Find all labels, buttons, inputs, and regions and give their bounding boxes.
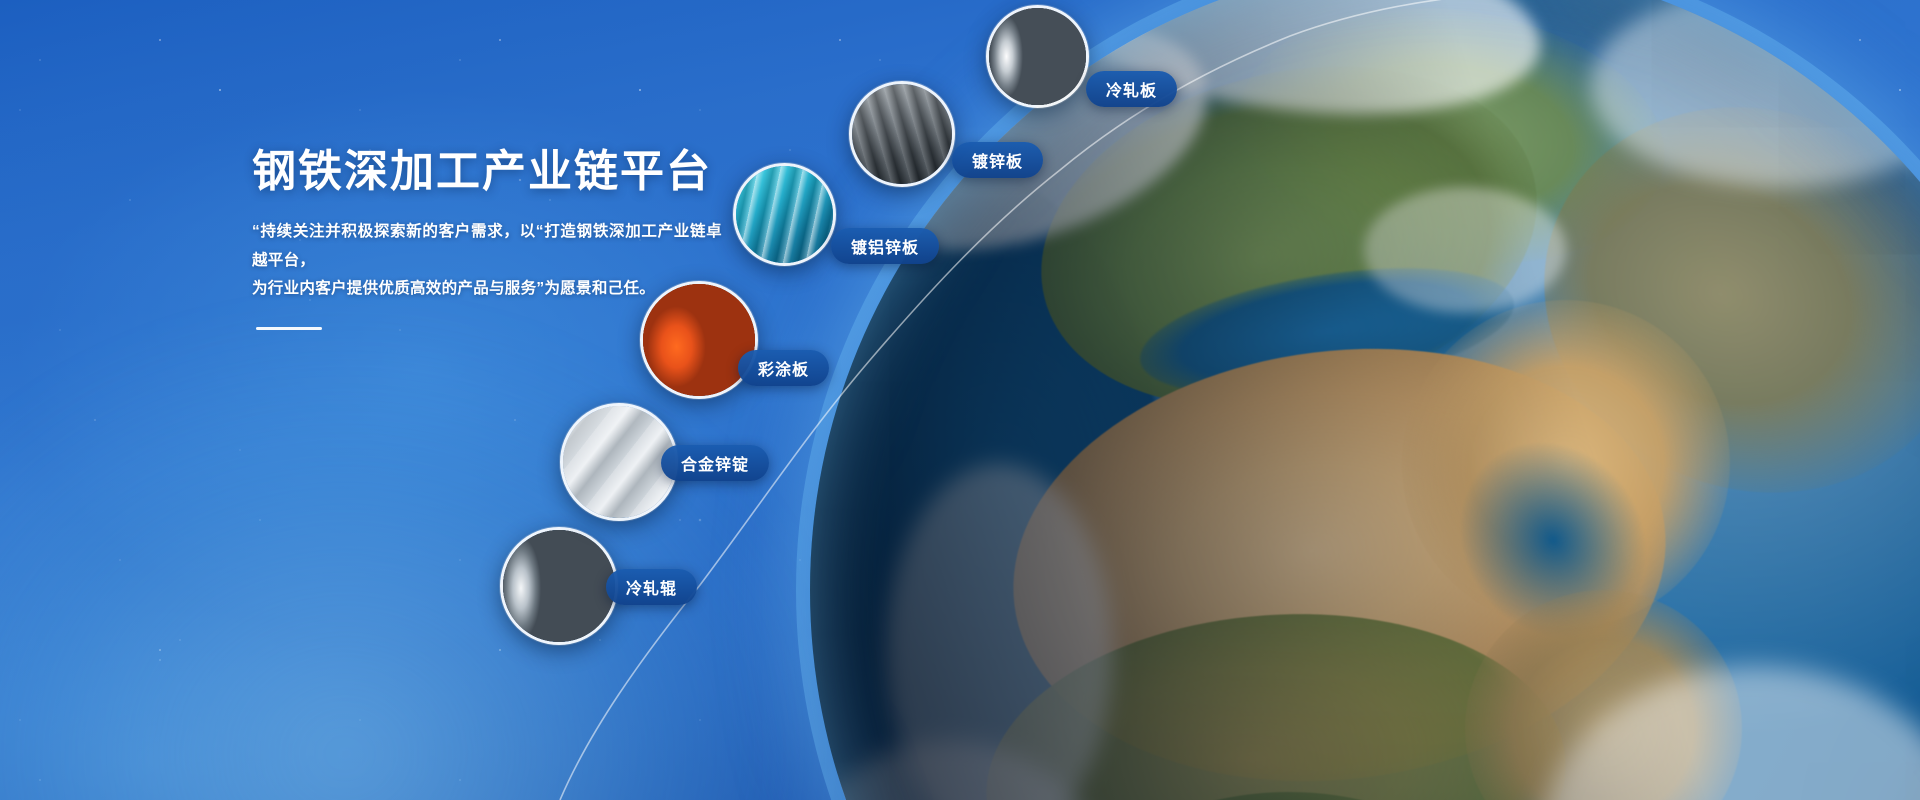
- subtitle-line-1: “持续关注并积极探索新的客户需求，以“打造钢铁深加工产业链卓越平台，: [252, 218, 722, 274]
- cloud-band: [1541, 666, 1920, 800]
- zinc-ingot-stack-photo: [563, 406, 675, 518]
- product-label-alu-zinc-coated[interactable]: 镀铝锌板: [831, 228, 939, 264]
- roll-shafts-photo: [503, 530, 615, 642]
- page-title: 钢铁深加工产业链平台: [252, 148, 722, 196]
- globe-sphere: [810, 0, 1920, 800]
- globe-atmosphere-glow: [796, 0, 1920, 800]
- product-thumb-galvanized[interactable]: [849, 81, 955, 187]
- star-background-bright: [0, 0, 1920, 800]
- product-label-cold-rolled-roll[interactable]: 冷轧辊: [606, 569, 697, 605]
- title-divider: [256, 327, 322, 330]
- ocean-red-sea: [1424, 407, 1683, 673]
- landmass-north: [1223, 0, 1682, 291]
- product-thumb-color-coated[interactable]: [640, 281, 758, 399]
- cloud-band: [886, 464, 1113, 800]
- product-thumb-cold-rolled-sheet[interactable]: [986, 5, 1089, 108]
- warehouse-bundles-photo: [852, 84, 952, 184]
- product-label-galvanized[interactable]: 镀锌板: [952, 142, 1043, 178]
- product-thumb-cold-rolled-roll[interactable]: [500, 527, 618, 645]
- star-background: [0, 0, 1920, 800]
- cloud-band: [1591, 0, 1920, 187]
- earth-globe: [810, 0, 1920, 800]
- hero-banner: 钢铁深加工产业链平台 “持续关注并积极探索新的客户需求，以“打造钢铁深加工产业链…: [0, 0, 1920, 800]
- product-label-cold-rolled-sheet[interactable]: 冷轧板: [1086, 71, 1177, 107]
- cloud-band: [1364, 187, 1566, 313]
- steel-coils-photo: [989, 8, 1086, 105]
- product-chain-line: [0, 0, 1920, 800]
- orange-coated-coils-photo: [643, 284, 755, 396]
- product-label-zinc-alloy-ingot[interactable]: 合金锌锭: [661, 445, 769, 481]
- cloud-band: [1054, 0, 1549, 136]
- landmass-arabia: [1360, 258, 1773, 671]
- star-background-far: [0, 0, 1920, 800]
- globe-shadow: [810, 0, 1920, 800]
- ocean-mediterranean: [1131, 246, 1522, 417]
- cloud-band: [810, 741, 1112, 800]
- landmass-asia: [1486, 45, 1920, 556]
- cyan-coil-photo: [736, 166, 833, 263]
- landmass-horn: [1423, 548, 1784, 800]
- landmass-sahara: [988, 312, 1691, 800]
- landmass-central-africa: [1037, 792, 1541, 800]
- product-label-color-coated[interactable]: 彩涂板: [738, 350, 829, 386]
- landmass-sahel: [976, 595, 1577, 800]
- product-thumb-alu-zinc-coated[interactable]: [733, 163, 836, 266]
